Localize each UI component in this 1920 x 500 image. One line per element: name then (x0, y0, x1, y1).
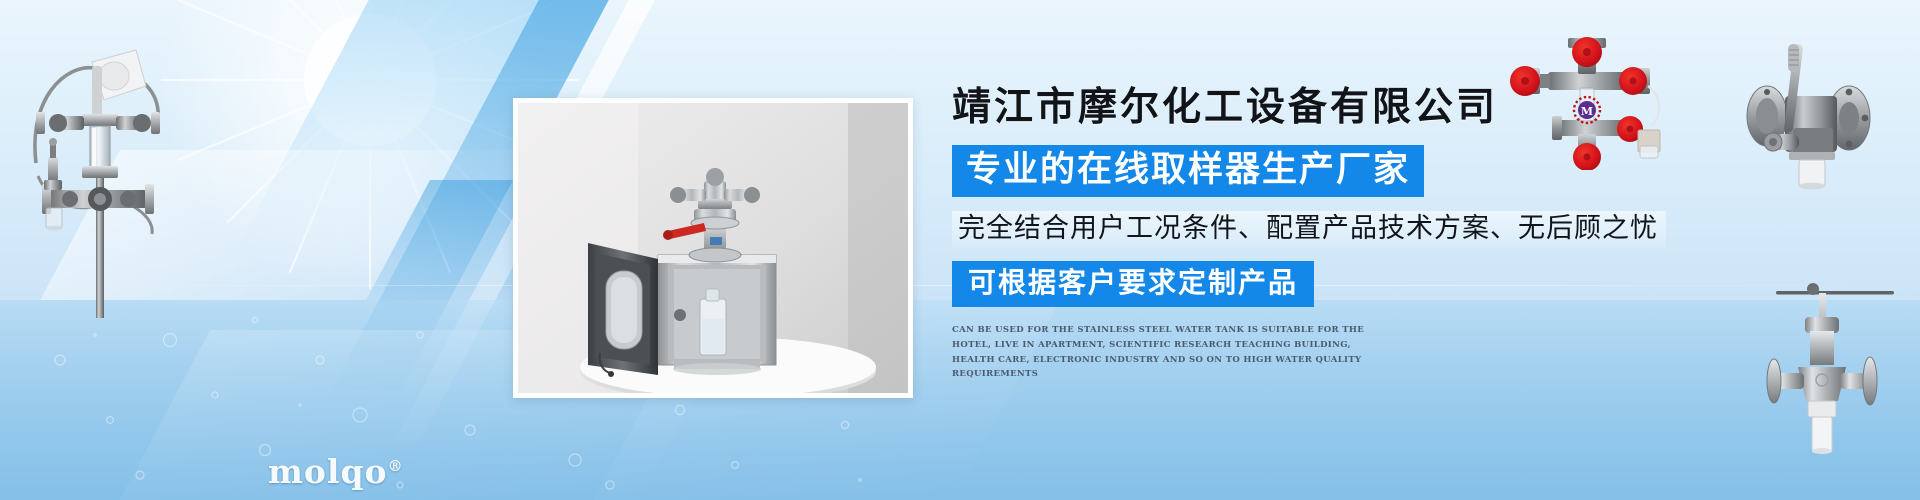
english-description: CAN BE USED FOR THE STAINLESS STEEL WATE… (952, 323, 1382, 381)
headline-badge: 专业的在线取样器生产厂家 (952, 145, 1424, 197)
left-product-image (8, 28, 188, 318)
bottom-right-product-image (1760, 275, 1910, 495)
sub-headline: 完全结合用户工况条件、配置产品技术方案、无后顾之忧 (952, 211, 1666, 248)
promotional-banner: 靖江市摩尔化工设备有限公司 专业的在线取样器生产厂家 完全结合用户工况条件、配置… (0, 0, 1920, 500)
secondary-badge: 可根据客户要求定制产品 (952, 261, 1314, 308)
svg-text:M: M (1581, 105, 1593, 118)
watermark-text: molqo (268, 452, 388, 491)
center-product-photo (518, 103, 908, 393)
watermark-logo: molqo® (268, 452, 404, 491)
watermark-registered-mark: ® (388, 457, 404, 475)
top-right-product-image: M (1490, 30, 1690, 170)
right-product-image (1715, 30, 1905, 210)
center-product-photo-frame (513, 98, 913, 398)
